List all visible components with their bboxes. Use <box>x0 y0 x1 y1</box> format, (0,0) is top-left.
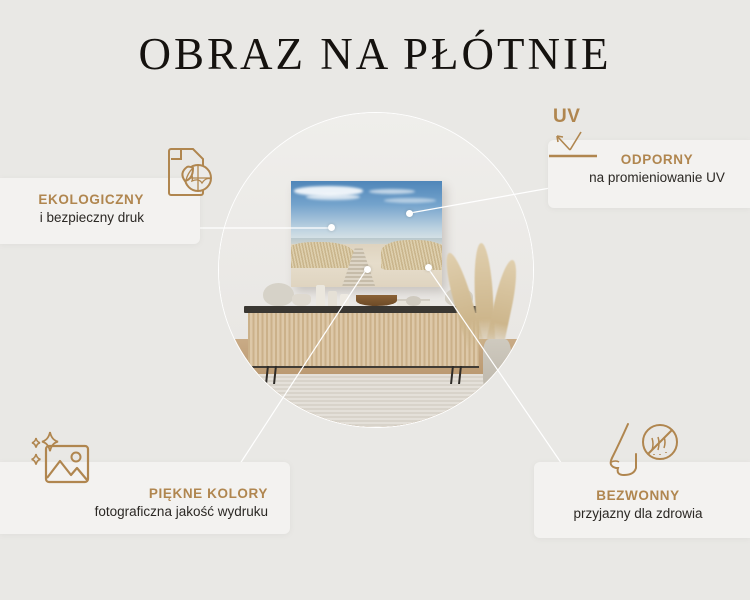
sideboard-fluted-doors <box>248 313 479 367</box>
cloud-icon <box>384 198 435 203</box>
infographic-poster: OBRAZ NA PŁÓTNIE <box>0 0 750 600</box>
feature-subtitle-colors: fotograficzna jakość wydruku <box>95 504 268 519</box>
sideboard-top <box>244 306 483 313</box>
nose-no-smell-icon <box>602 418 682 482</box>
feature-title-colors: PIĘKNE KOLORY <box>95 486 268 501</box>
connector-dot <box>425 264 432 271</box>
uv-reflect-icon <box>545 108 607 168</box>
decor-small-bowl <box>292 294 311 306</box>
cloud-icon <box>369 189 414 194</box>
sideboard-furniture <box>244 306 483 375</box>
feature-subtitle-eco: i bezpieczny druk <box>38 210 144 225</box>
decor-round-vase <box>263 283 294 306</box>
feature-title-eco: EKOLOGICZNY <box>38 192 144 207</box>
pampas-vase <box>483 339 511 402</box>
pampas-grass <box>451 251 520 351</box>
decor-wooden-bowl <box>356 295 397 306</box>
decor-candle <box>328 291 338 306</box>
connector-dot <box>406 210 413 217</box>
artwork-dune-right <box>381 240 442 270</box>
document-globe-leaf-icon <box>157 143 219 205</box>
feature-title-odorless: BEZWONNY <box>534 488 742 503</box>
picture-sparkle-icon <box>24 428 96 492</box>
cloud-icon <box>306 194 360 201</box>
connector-dot <box>328 224 335 231</box>
product-scene-circle <box>218 112 534 428</box>
room-interior <box>219 113 533 427</box>
feature-subtitle-uv: na promieniowanie UV <box>578 170 736 185</box>
sideboard-leg <box>265 366 277 384</box>
connector-dot <box>364 266 371 273</box>
feature-subtitle-odorless: przyjazny dla zdrowia <box>534 506 742 521</box>
decor-candle <box>316 285 326 306</box>
decor-sphere <box>406 296 420 306</box>
page-title: OBRAZ NA PŁÓTNIE <box>0 28 750 80</box>
artwork-dune-left <box>291 242 355 267</box>
artwork-sky <box>291 181 442 240</box>
decor-candle <box>340 294 350 306</box>
